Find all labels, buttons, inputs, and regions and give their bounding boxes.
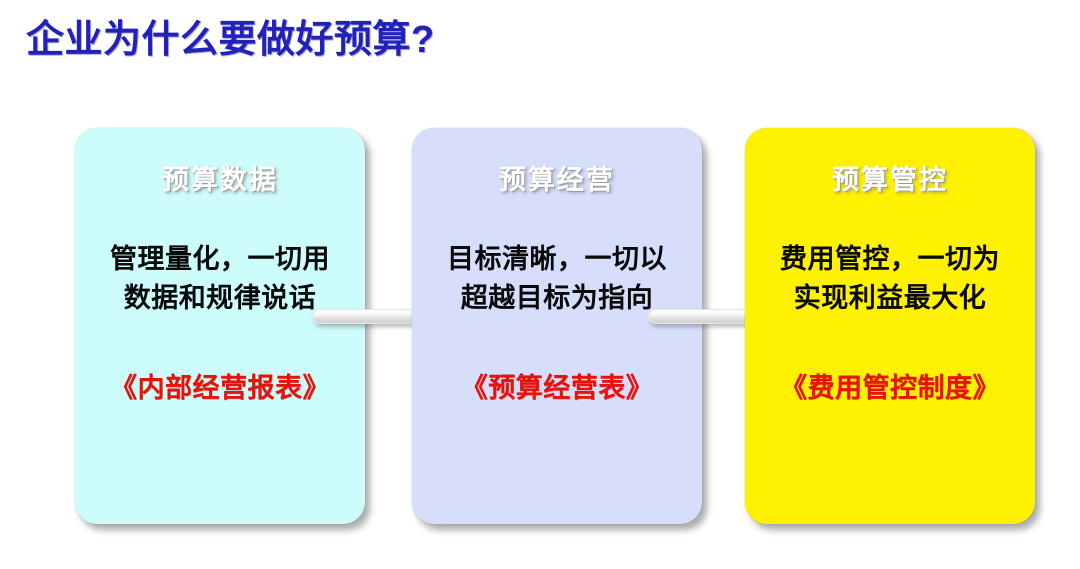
slide-canvas: 企业为什么要做好预算? 预算数据 管理量化，一切用 数据和规律说话 《内部经营报… xyxy=(0,0,1080,569)
page-title: 企业为什么要做好预算? xyxy=(26,18,435,64)
card-body-line1: 目标清晰，一切以 xyxy=(447,244,667,274)
connector-data-to-operation xyxy=(312,309,416,324)
card-header-label: 预算数据 xyxy=(162,166,278,196)
card-document-label: 《费用管控制度》 xyxy=(780,366,1000,405)
card-budget-operation[interactable]: 预算经营 目标清晰，一切以 超越目标为指向 《预算经营表》 xyxy=(412,128,702,524)
card-document-label: 《预算经营表》 xyxy=(461,366,654,405)
card-row: 预算数据 管理量化，一切用 数据和规律说话 《内部经营报表》 预算经营 目标清晰… xyxy=(0,128,1080,528)
card-body-line2: 实现利益最大化 xyxy=(767,279,1013,318)
card-body-line1: 管理量化，一切用 xyxy=(110,244,330,274)
card-document-label: 《内部经营报表》 xyxy=(110,366,330,405)
connector-operation-to-control xyxy=(648,309,752,324)
card-budget-data[interactable]: 预算数据 管理量化，一切用 数据和规律说话 《内部经营报表》 xyxy=(75,128,365,524)
card-budget-control[interactable]: 预算管控 费用管控，一切为 实现利益最大化 《费用管控制度》 xyxy=(745,128,1035,524)
card-body-text: 管理量化，一切用 数据和规律说话 xyxy=(97,240,343,318)
card-body-text: 目标清晰，一切以 超越目标为指向 xyxy=(434,240,680,318)
card-header-label: 预算管控 xyxy=(832,166,948,196)
card-content: 预算管控 费用管控，一切为 实现利益最大化 《费用管控制度》 xyxy=(745,128,1035,524)
card-body-text: 费用管控，一切为 实现利益最大化 xyxy=(767,240,1013,318)
card-content: 预算经营 目标清晰，一切以 超越目标为指向 《预算经营表》 xyxy=(412,128,702,524)
card-body-line1: 费用管控，一切为 xyxy=(780,244,1000,274)
card-content: 预算数据 管理量化，一切用 数据和规律说话 《内部经营报表》 xyxy=(75,128,365,524)
card-header-label: 预算经营 xyxy=(499,166,615,196)
card-body-line2: 数据和规律说话 xyxy=(97,279,343,318)
card-body-line2: 超越目标为指向 xyxy=(434,279,680,318)
